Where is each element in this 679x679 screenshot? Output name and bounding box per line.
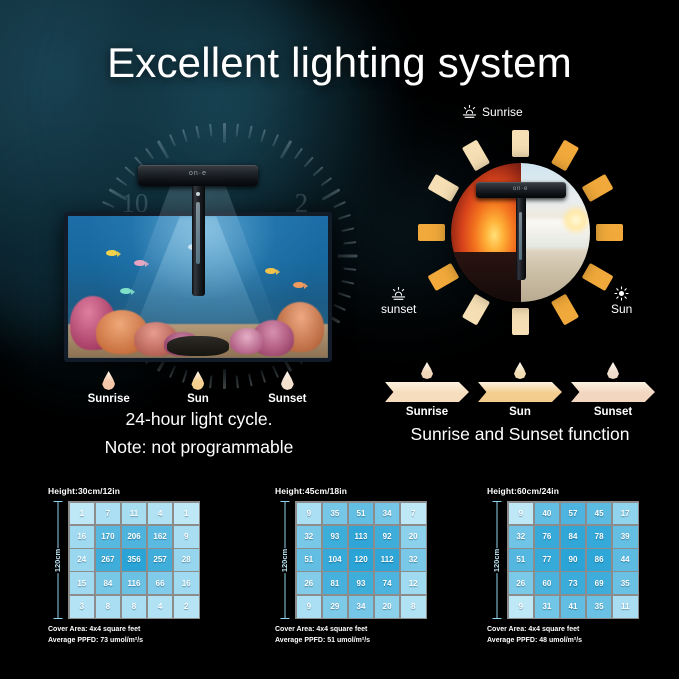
- ppfd-cell: 1: [174, 503, 199, 525]
- clock-tick: [169, 134, 176, 147]
- ppfd-cell: 170: [96, 526, 121, 548]
- water-drop-icon: [607, 362, 619, 379]
- clock-tick: [341, 280, 354, 285]
- dial-fixture-bar: on·e: [476, 182, 566, 198]
- clock-tick: [338, 292, 351, 298]
- ppfd-table-60cm: Height:60cm/24in 120cm 94057451732768478…: [487, 486, 639, 647]
- clock-tick: [279, 140, 292, 159]
- dial-segment: [418, 224, 445, 241]
- ppfd-cell: 93: [323, 526, 348, 548]
- ppfd-cell: 31: [535, 596, 560, 618]
- ppfd-cell: 35: [323, 503, 348, 525]
- dial-ring: on·e: [418, 130, 623, 335]
- ppfd-grid: 1711411617020616292426735625728158411666…: [68, 501, 200, 619]
- ppfd-cell: 8: [401, 596, 426, 618]
- ppfd-cell: 26: [297, 572, 322, 594]
- ppfd-cell: 28: [174, 549, 199, 571]
- arrow-shape: [478, 382, 562, 402]
- ppfd-cell: 44: [613, 549, 638, 571]
- ppfd-cell: 74: [375, 572, 400, 594]
- clock-tick: [313, 166, 324, 176]
- phase-drop-sunrise: Sunrise: [73, 371, 145, 405]
- dimension-indicator: 120cm: [487, 501, 507, 619]
- sunrise-sunset-dial: Sunrise sunset: [375, 100, 665, 340]
- ppfd-cell: 267: [96, 549, 121, 571]
- ppfd-cell: 2: [174, 596, 199, 618]
- ppfd-cell: 15: [70, 572, 95, 594]
- clock-tick: [182, 129, 188, 142]
- average-ppfd-text: Average PPFD: 51 umol/m²/s: [275, 636, 427, 647]
- ppfd-cell: 17: [613, 503, 638, 525]
- ppfd-cell: 34: [349, 596, 374, 618]
- ppfd-cell: 120: [349, 549, 374, 571]
- ppfd-cell: 39: [613, 526, 638, 548]
- clock-tick: [156, 140, 169, 159]
- dimension-label: 120cm: [279, 547, 292, 572]
- clock-tick: [195, 126, 200, 139]
- ppfd-cell: 78: [587, 526, 612, 548]
- ppfd-cell: 84: [96, 572, 121, 594]
- clock-tick: [260, 129, 266, 142]
- dimension-indicator: 120cm: [48, 501, 68, 619]
- ppfd-cell: 112: [375, 549, 400, 571]
- phase-label: Sunrise: [73, 393, 145, 405]
- ppfd-cell: 35: [587, 596, 612, 618]
- ppfd-cell: 69: [587, 572, 612, 594]
- ppfd-grid: 9355134732931139220511041201123226819374…: [295, 501, 427, 619]
- ppfd-cell: 93: [349, 572, 374, 594]
- water-drop-icon: [421, 362, 433, 379]
- ppfd-cell: 26: [509, 572, 534, 594]
- ppfd-footer: Cover Area: 4x4 square feet Average PPFD…: [48, 625, 200, 647]
- arrow-label: Sunset: [571, 406, 655, 418]
- ppfd-cell: 11: [613, 596, 638, 618]
- dial-segment: [596, 224, 623, 241]
- ppfd-title: Height:45cm/18in: [275, 486, 427, 496]
- ppfd-cell: 113: [349, 526, 374, 548]
- ppfd-table-45cm: Height:45cm/18in 120cm 93551347329311392…: [275, 486, 427, 647]
- phase-drops-row: Sunrise Sun Sunset: [64, 371, 332, 405]
- ppfd-cell: 40: [535, 503, 560, 525]
- clock-tick: [102, 201, 115, 208]
- fixture-logo: on·e: [189, 170, 207, 177]
- dial-label-text: Sunrise: [482, 105, 523, 119]
- average-ppfd-text: Average PPFD: 48 umol/m²/s: [487, 636, 639, 647]
- ppfd-cell: 4: [148, 503, 173, 525]
- sunset-icon: [390, 286, 407, 301]
- ppfd-cell: 32: [297, 526, 322, 548]
- phase-arrow-sunset: Sunset: [571, 362, 655, 418]
- ppfd-cell: 90: [561, 549, 586, 571]
- ppfd-cell: 4: [148, 596, 173, 618]
- ppfd-cell: 73: [561, 572, 586, 594]
- clock-tick: [272, 134, 279, 147]
- arrow-shape: [385, 382, 469, 402]
- ppfd-cell: 51: [349, 503, 374, 525]
- water-drop-icon: [514, 362, 526, 379]
- cover-area-text: Cover Area: 4x4 square feet: [275, 625, 427, 636]
- arrow-shape: [571, 382, 655, 402]
- ppfd-cell: 8: [96, 596, 121, 618]
- dial-label-sunrise: Sunrise: [461, 104, 523, 119]
- ppfd-cell: 116: [122, 572, 147, 594]
- clock-tick: [341, 227, 354, 232]
- clock-tick: [320, 177, 332, 186]
- clock-tick: [294, 148, 303, 160]
- phase-arrows-row: Sunrise Sun Sunset: [385, 362, 655, 418]
- phase-arrow-sun: Sun: [478, 362, 562, 418]
- ppfd-cell: 35: [613, 572, 638, 594]
- ppfd-footer: Cover Area: 4x4 square feet Average PPFD…: [487, 625, 639, 647]
- cover-area-text: Cover Area: 4x4 square feet: [487, 625, 639, 636]
- fish: [293, 282, 304, 288]
- ppfd-cell: 104: [323, 549, 348, 571]
- clock-tick: [248, 126, 253, 139]
- dial-segment: [512, 308, 529, 335]
- ppfd-cell: 51: [509, 549, 534, 571]
- programmable-note: Note: not programmable: [44, 437, 354, 458]
- clock-tick: [223, 123, 226, 143]
- dial-segment: [512, 130, 529, 157]
- ppfd-cell: 16: [174, 572, 199, 594]
- dial-light-fixture: on·e: [476, 182, 566, 280]
- arrow-label: Sunrise: [385, 406, 469, 418]
- phase-label: Sunset: [251, 393, 323, 405]
- ppfd-cell: 1: [70, 503, 95, 525]
- ppfd-cell: 57: [561, 503, 586, 525]
- ppfd-cell: 41: [561, 596, 586, 618]
- cover-area-text: Cover Area: 4x4 square feet: [48, 625, 200, 636]
- ppfd-cell: 60: [535, 572, 560, 594]
- ppfd-grid: 9405745173276847839517790864426607369359…: [507, 501, 639, 619]
- fish: [106, 250, 117, 256]
- ppfd-cell: 356: [122, 549, 147, 571]
- ppfd-cell: 81: [323, 572, 348, 594]
- fixture-bar: on·e: [138, 165, 258, 186]
- ppfd-cell: 29: [323, 596, 348, 618]
- clock-tick: [124, 166, 135, 176]
- dial-fixture-stem: [516, 198, 526, 280]
- clock-tick: [333, 304, 346, 311]
- clock-tick: [337, 255, 357, 258]
- clock-tick: [304, 156, 314, 167]
- ppfd-cell: 257: [148, 549, 173, 571]
- ppfd-cell: 32: [401, 549, 426, 571]
- clock-tick: [236, 124, 239, 137]
- phase-label: Sun: [162, 393, 234, 405]
- ppfd-cell: 9: [174, 526, 199, 548]
- ppfd-cell: 162: [148, 526, 173, 548]
- sunrise-icon: [461, 104, 478, 119]
- clock-tick: [333, 201, 346, 208]
- phase-drop-sun: Sun: [162, 371, 234, 405]
- ppfd-cell: 76: [535, 526, 560, 548]
- ppfd-cell: 3: [70, 596, 95, 618]
- dimension-indicator: 120cm: [275, 501, 295, 619]
- ppfd-cell: 20: [401, 526, 426, 548]
- dial-fixture-logo: on·e: [513, 186, 528, 192]
- sunrise-sunset-caption: Sunrise and Sunset function: [370, 424, 670, 445]
- ppfd-cell: 34: [375, 503, 400, 525]
- aquarium-light-fixture: on·e: [138, 165, 258, 296]
- fish: [265, 268, 276, 274]
- ppfd-cell: 84: [561, 526, 586, 548]
- dial-label-sunset: sunset: [381, 286, 416, 316]
- ppfd-cell: 20: [375, 596, 400, 618]
- clock-tick: [343, 268, 356, 271]
- ppfd-cell: 92: [375, 526, 400, 548]
- clock-tick: [209, 124, 212, 137]
- ppfd-cell: 12: [401, 572, 426, 594]
- ppfd-cell: 32: [509, 526, 534, 548]
- ppfd-cell: 206: [122, 526, 147, 548]
- ppfd-title: Height:60cm/24in: [487, 486, 639, 496]
- ppfd-cell: 7: [96, 503, 121, 525]
- clock-tick: [321, 188, 340, 201]
- arrow-label: Sun: [478, 406, 562, 418]
- ppfd-cell: 77: [535, 549, 560, 571]
- ppfd-footer: Cover Area: 4x4 square feet Average PPFD…: [275, 625, 427, 647]
- average-ppfd-text: Average PPFD: 73 umol/m²/s: [48, 636, 200, 647]
- ppfd-cell: 51: [297, 549, 322, 571]
- ppfd-cell: 24: [70, 549, 95, 571]
- clock-tick: [116, 177, 128, 186]
- ppfd-cell: 11: [122, 503, 147, 525]
- dimension-label: 120cm: [52, 547, 65, 572]
- phase-drop-sunset: Sunset: [251, 371, 323, 405]
- clock-tick: [343, 241, 356, 244]
- dial-label-text: sunset: [381, 302, 416, 316]
- dimension-label: 120cm: [491, 547, 504, 572]
- ppfd-table-30cm: Height:30cm/12in 120cm 17114116170206162…: [48, 486, 200, 647]
- ppfd-cell: 86: [587, 549, 612, 571]
- light-cycle-caption: 24-hour light cycle.: [44, 409, 354, 430]
- fixture-indicator-dot: [196, 192, 200, 196]
- ppfd-cell: 45: [587, 503, 612, 525]
- ppfd-cell: 9: [297, 596, 322, 618]
- fish: [120, 288, 131, 294]
- fixture-stem: [192, 186, 205, 296]
- ppfd-title: Height:30cm/12in: [48, 486, 200, 496]
- ppfd-cell: 16: [70, 526, 95, 548]
- ppfd-cell: 66: [148, 572, 173, 594]
- ppfd-cell: 9: [509, 596, 534, 618]
- phase-arrow-sunrise: Sunrise: [385, 362, 469, 418]
- clock-tick: [338, 214, 351, 220]
- ppfd-cell: 7: [401, 503, 426, 525]
- ppfd-cell: 9: [297, 503, 322, 525]
- ppfd-cell: 9: [509, 503, 534, 525]
- clock-tick: [145, 148, 154, 160]
- ppfd-cell: 8: [122, 596, 147, 618]
- page-title: Excellent lighting system: [0, 40, 679, 86]
